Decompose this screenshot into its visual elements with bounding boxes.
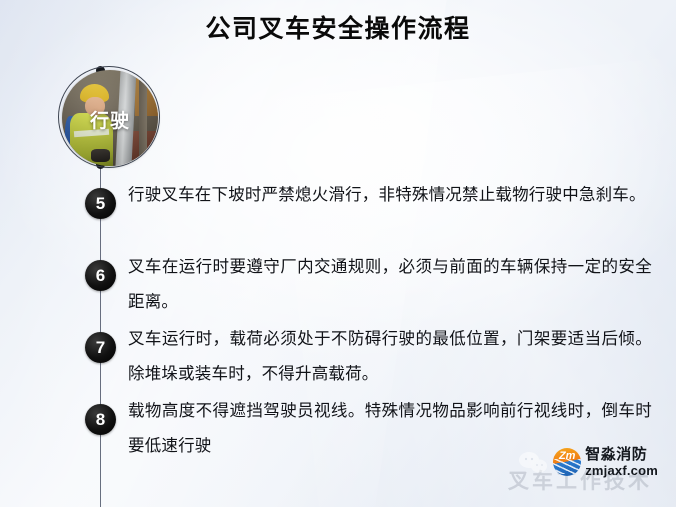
steps-list: 5 行驶叉车在下坡时严禁熄火滑行，非特殊情况禁止载物行驶中急刹车。 6 叉车在运… bbox=[0, 178, 676, 466]
list-item: 7 叉车运行时，载荷必须处于不防碍行驶的最低位置，门架要适当后倾。除堆垛或装车时… bbox=[0, 322, 676, 394]
poster-canvas: 公司叉车安全操作流程 行驶 5 行驶叉车在下坡时严禁熄火滑行，非特殊情况禁止载物… bbox=[0, 0, 676, 507]
step-number-badge: 5 bbox=[85, 188, 116, 219]
brand-watermark: Zm 智淼消防 zmjaxf.com bbox=[553, 447, 658, 477]
step-number-badge: 6 bbox=[85, 260, 116, 291]
list-item: 6 叉车在运行时要遵守厂内交通规则，必须与前面的车辆保持一定的安全距离。 bbox=[0, 250, 676, 322]
list-item: 5 行驶叉车在下坡时严禁熄火滑行，非特殊情况禁止载物行驶中急刹车。 bbox=[0, 178, 676, 250]
brand-text-block: 智淼消防 zmjaxf.com bbox=[585, 447, 658, 477]
step-text: 叉车运行时，载荷必须处于不防碍行驶的最低位置，门架要适当后倾。除堆垛或装车时，不… bbox=[128, 322, 652, 392]
step-text: 行驶叉车在下坡时严禁熄火滑行，非特殊情况禁止载物行驶中急刹车。 bbox=[128, 178, 652, 213]
brand-logo-waves bbox=[553, 459, 581, 474]
step-number-badge: 8 bbox=[85, 404, 116, 435]
page-title: 公司叉车安全操作流程 bbox=[0, 12, 676, 46]
brand-url: zmjaxf.com bbox=[585, 464, 658, 477]
brand-name: 智淼消防 bbox=[585, 447, 658, 462]
section-badge-label: 行驶 bbox=[62, 106, 158, 133]
wechat-icon bbox=[518, 451, 548, 475]
section-photo-badge: 行驶 bbox=[62, 70, 158, 166]
step-text: 叉车在运行时要遵守厂内交通规则，必须与前面的车辆保持一定的安全距离。 bbox=[128, 250, 652, 320]
brand-logo-icon: Zm bbox=[553, 448, 581, 476]
step-number-badge: 7 bbox=[85, 332, 116, 363]
